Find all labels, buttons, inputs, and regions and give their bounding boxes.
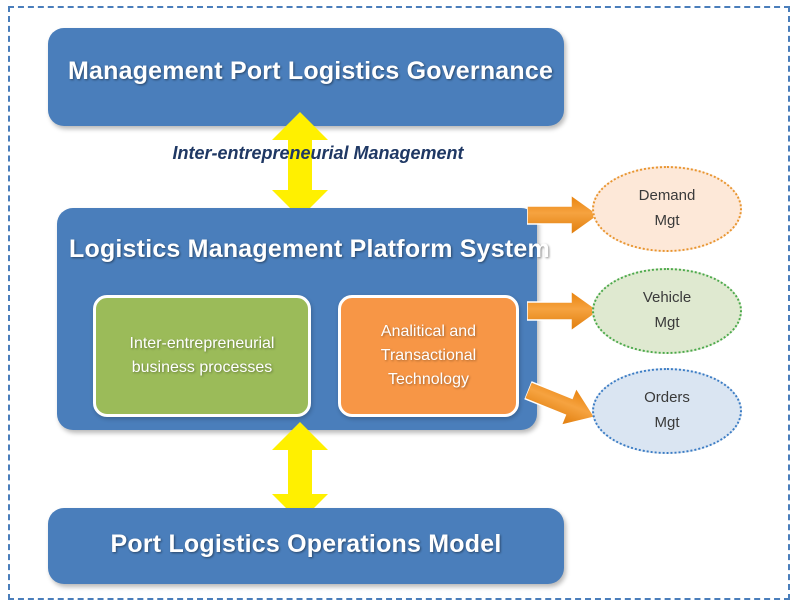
technology-card-line3: Technology [388,371,469,388]
double-arrow-shape [272,112,328,218]
orders-mgt-text: Orders Mgt [644,386,690,436]
orders-mgt-ellipse[interactable]: Orders Mgt [592,368,742,454]
vertical-double-arrow-bottom [272,422,328,522]
processes-card-line1: Inter-entrepreneurial [130,335,275,352]
technology-card-line2: Transactional [381,347,476,364]
orders-mgt-line2: Mgt [654,414,679,431]
vehicle-mgt-text: Vehicle Mgt [643,286,691,336]
processes-card-line2: business processes [132,359,273,376]
orders-mgt-line1: Orders [644,389,690,406]
vehicle-mgt-line2: Mgt [654,314,679,331]
vehicle-mgt-ellipse[interactable]: Vehicle Mgt [592,268,742,354]
vertical-double-arrow-top [272,112,328,218]
demand-mgt-line2: Mgt [654,212,679,229]
arrow-to-demand-icon [527,193,599,242]
demand-mgt-text: Demand Mgt [639,184,696,234]
double-arrow-shape [272,422,328,522]
vehicle-mgt-line1: Vehicle [643,289,691,306]
technology-card-line1: Analitical and [381,323,476,340]
operations-box[interactable]: Port Logistics Operations Model [48,508,564,584]
arrow-to-vehicle-icon [527,289,599,338]
diagram-canvas: Management Port Logistics Governance Int… [0,0,800,608]
technology-card-text: Analitical and Transactional Technology [371,320,486,392]
platform-box-label: Logistics Management Platform System [69,235,525,264]
demand-mgt-line1: Demand [639,187,696,204]
demand-mgt-ellipse[interactable]: Demand Mgt [592,166,742,252]
operations-box-label: Port Logistics Operations Model [68,530,544,559]
governance-box-label: Management Port Logistics Governance [68,57,544,86]
processes-card-text: Inter-entrepreneurial business processes [120,332,285,380]
inter-entrepreneurial-business-processes-card[interactable]: Inter-entrepreneurial business processes [93,295,311,417]
analitical-transactional-technology-card[interactable]: Analitical and Transactional Technology [338,295,519,417]
inter-entrepreneurial-management-label: Inter-entrepreneurial Management [128,143,508,164]
